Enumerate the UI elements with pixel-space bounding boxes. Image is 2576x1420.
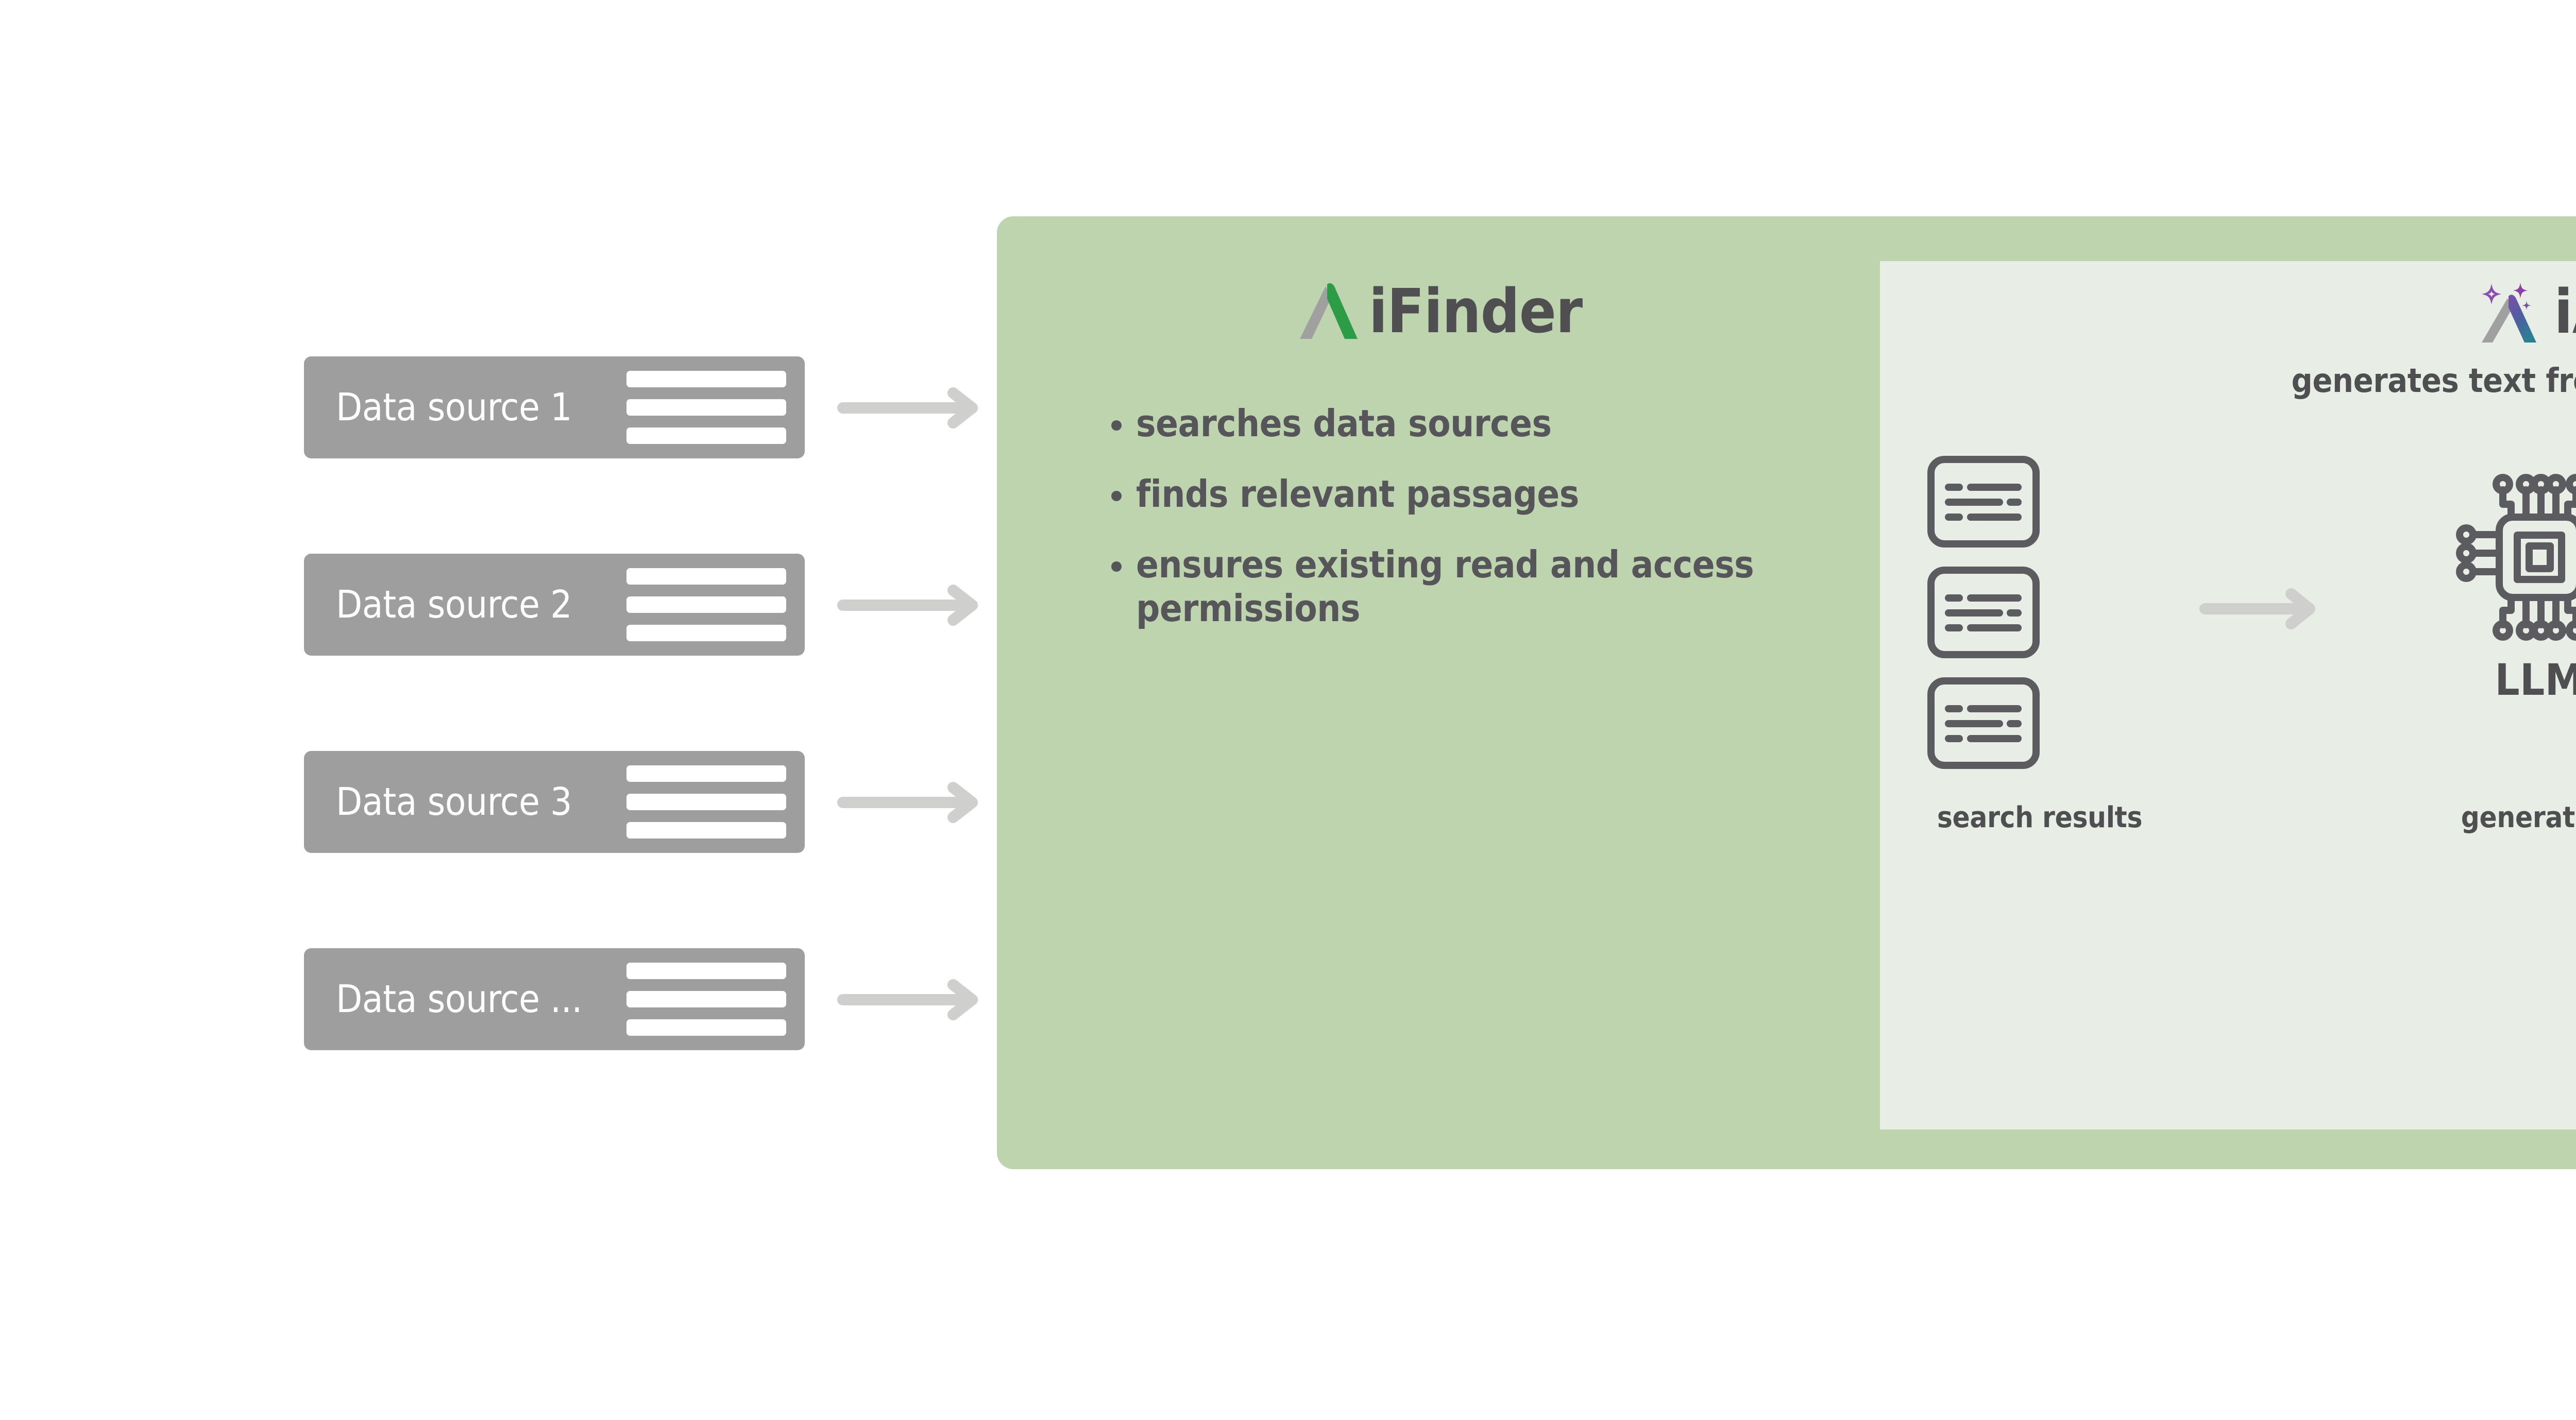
- line-glyph: [626, 822, 786, 839]
- line-glyph: [626, 1019, 786, 1036]
- lambda-sparkle-mark-icon: [2470, 276, 2548, 348]
- search-results-group: search results: [1926, 455, 2153, 787]
- llm-label: LLM: [2395, 655, 2576, 705]
- document-lines-icon: [1926, 455, 2041, 549]
- iassistant-title: iAssistant: [2554, 281, 2576, 342]
- line-glyph: [626, 991, 786, 1007]
- generative-caption: generative: [2395, 801, 2576, 834]
- ifinder-title: iFinder: [1369, 281, 1582, 341]
- list-item: finds relevant passages: [1109, 472, 1820, 516]
- line-glyph: [626, 765, 786, 782]
- line-glyph: [626, 371, 786, 387]
- line-glyph: [626, 963, 786, 979]
- line-glyph: [626, 568, 786, 585]
- document-lines-icon: [1926, 566, 2041, 659]
- data-source-card[interactable]: Data source 1: [304, 356, 805, 458]
- arrow-right-icon: [2199, 591, 2323, 627]
- line-glyph: [626, 399, 786, 416]
- arrow-right-icon: [837, 982, 987, 1018]
- ifinder-iassistant-container: iFinder searches data sources finds rele…: [997, 216, 2576, 1169]
- ifinder-logo: iFinder: [997, 279, 1880, 343]
- data-source-lines: [626, 963, 786, 1036]
- data-source-label: Data source 1: [336, 385, 572, 430]
- data-source-row: Data source 2: [304, 554, 819, 657]
- data-source-label: Data source 3: [336, 780, 572, 824]
- ifinder-panel: iFinder searches data sources finds rele…: [997, 216, 1880, 1169]
- search-results-caption: search results: [1926, 801, 2153, 834]
- data-sources-group: Data source 1 Data source 2: [304, 356, 819, 1062]
- data-source-label: Data source ...: [336, 977, 582, 1021]
- iassistant-subtitle: generates text from organization’s own d…: [1880, 362, 2576, 400]
- line-glyph: [626, 625, 786, 641]
- arrow-right-icon: [837, 390, 987, 426]
- lambda-mark-icon: [1295, 279, 1362, 343]
- list-item: ensures existing read and access permiss…: [1109, 543, 1820, 630]
- arrow-right-icon: [837, 784, 987, 820]
- list-item: searches data sources: [1109, 402, 1820, 446]
- cpu-chip-icon: [2449, 467, 2576, 647]
- data-source-lines: [626, 765, 786, 839]
- data-source-label: Data source 2: [336, 583, 572, 627]
- data-source-lines: [626, 568, 786, 641]
- line-glyph: [626, 427, 786, 444]
- line-glyph: [626, 596, 786, 613]
- data-source-card[interactable]: Data source 2: [304, 554, 805, 656]
- data-source-row: Data source 3: [304, 751, 819, 854]
- document-lines-icon: [1926, 676, 2041, 770]
- data-source-row: Data source 1: [304, 356, 819, 459]
- generative-group: LLM generative: [2395, 467, 2576, 705]
- ifinder-feature-list: searches data sources finds relevant pas…: [1109, 402, 1820, 657]
- data-source-card[interactable]: Data source 3: [304, 751, 805, 853]
- line-glyph: [626, 794, 786, 810]
- iassistant-logo: iAssistant: [1880, 276, 2576, 348]
- data-source-card[interactable]: Data source ...: [304, 948, 805, 1050]
- data-source-lines: [626, 371, 786, 444]
- pipeline-stage: search results: [1880, 410, 2576, 1029]
- iassistant-panel: iAssistant generates text from organizat…: [1880, 261, 2576, 1130]
- data-source-row: Data source ...: [304, 948, 819, 1051]
- arrow-right-icon: [837, 587, 987, 623]
